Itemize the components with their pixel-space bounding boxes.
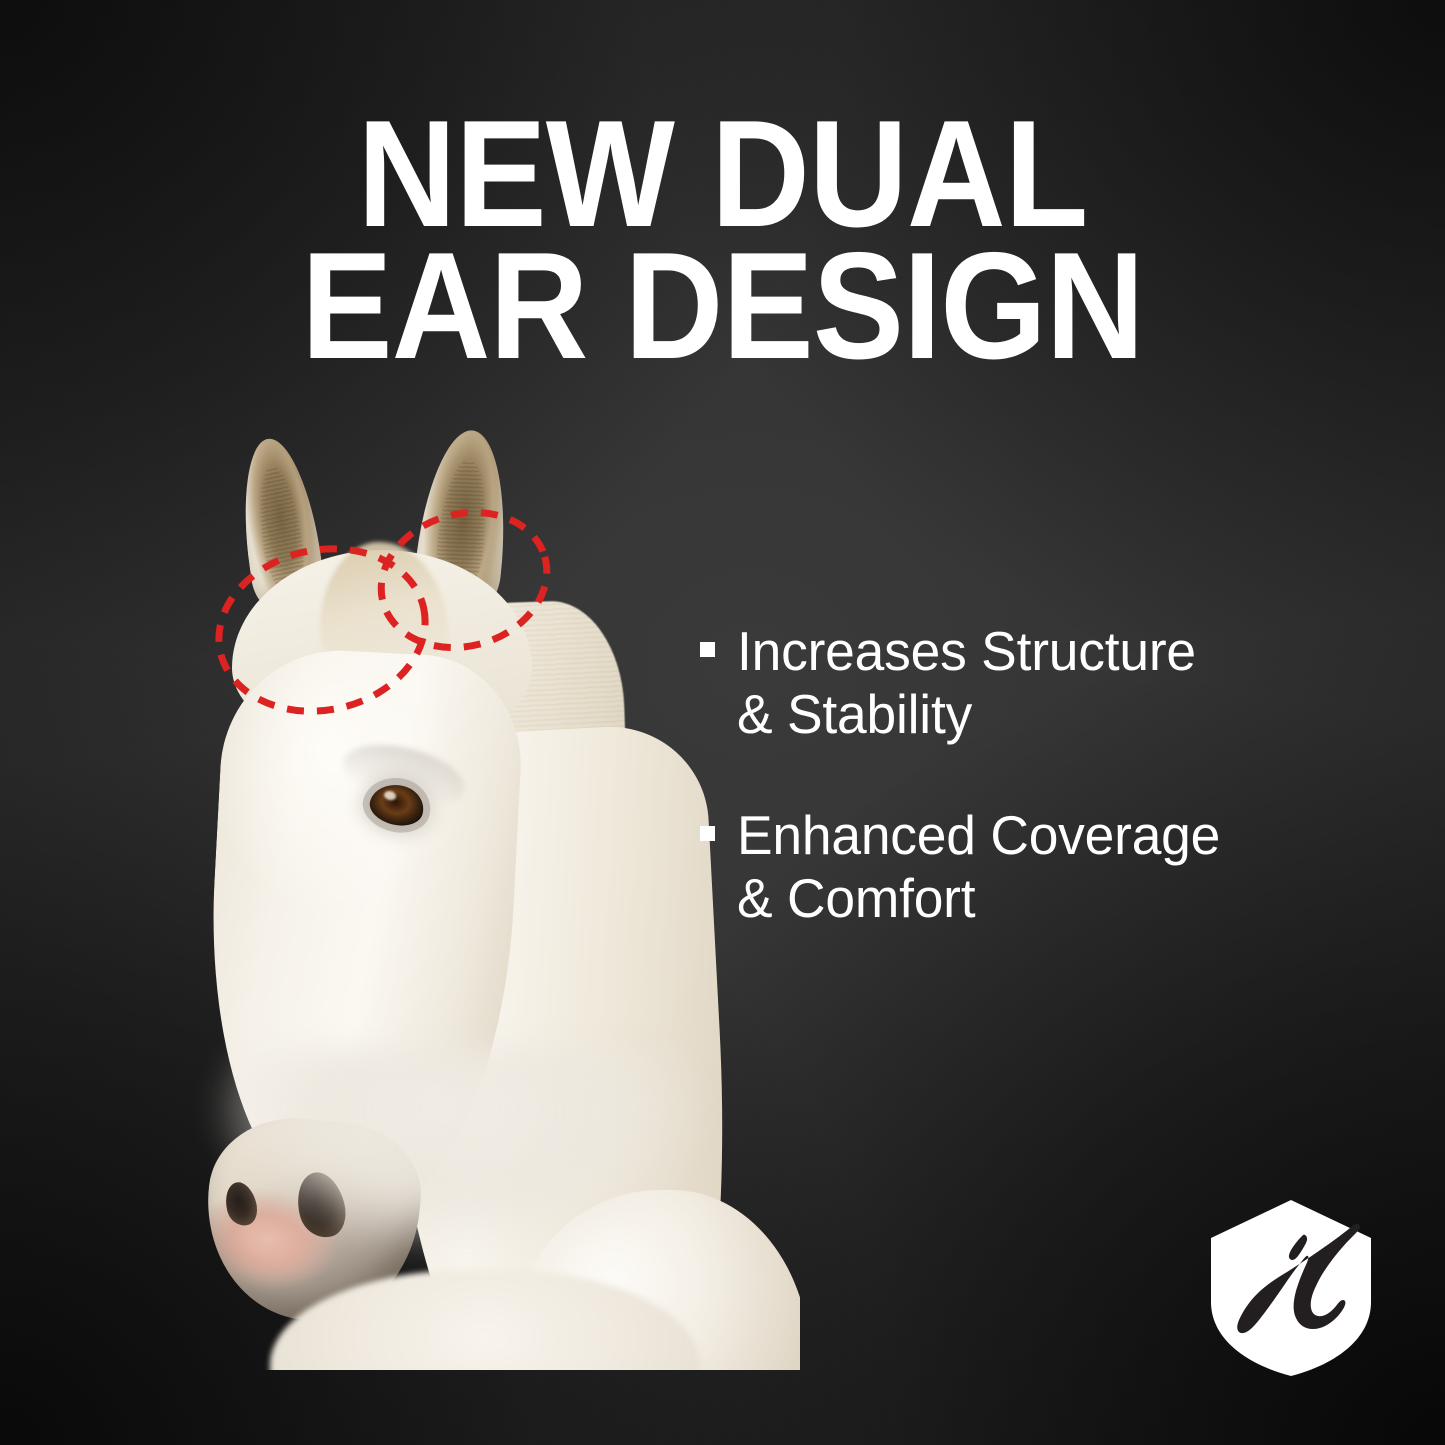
bullet-square-icon xyxy=(700,826,715,841)
horse-fade-out xyxy=(150,1050,770,1380)
feature-text-line-2: & Stability xyxy=(737,683,972,745)
feature-text: Increases Structure & Stability xyxy=(737,620,1196,746)
right-ear-base-highlight-icon xyxy=(365,493,563,666)
left-ear-base-highlight-icon xyxy=(204,530,441,730)
ear-highlight-annotations xyxy=(200,480,580,780)
feature-text-line-1: Increases Structure xyxy=(737,620,1196,682)
feature-text: Enhanced Coverage & Comfort xyxy=(737,804,1220,930)
list-item: Enhanced Coverage & Comfort xyxy=(700,804,1360,930)
shield-icon xyxy=(1211,1200,1371,1376)
brand-logo xyxy=(1205,1198,1377,1378)
list-item: Increases Structure & Stability xyxy=(700,620,1360,746)
feature-list: Increases Structure & Stability Enhanced… xyxy=(700,620,1360,988)
feature-text-line-1: Enhanced Coverage xyxy=(737,804,1220,866)
horse-eye-glint xyxy=(383,790,397,802)
bullet-square-icon xyxy=(700,642,715,657)
ad-creative: NEW DUAL EAR DESIGN xyxy=(0,0,1445,1445)
feature-text-line-2: & Comfort xyxy=(737,867,975,929)
